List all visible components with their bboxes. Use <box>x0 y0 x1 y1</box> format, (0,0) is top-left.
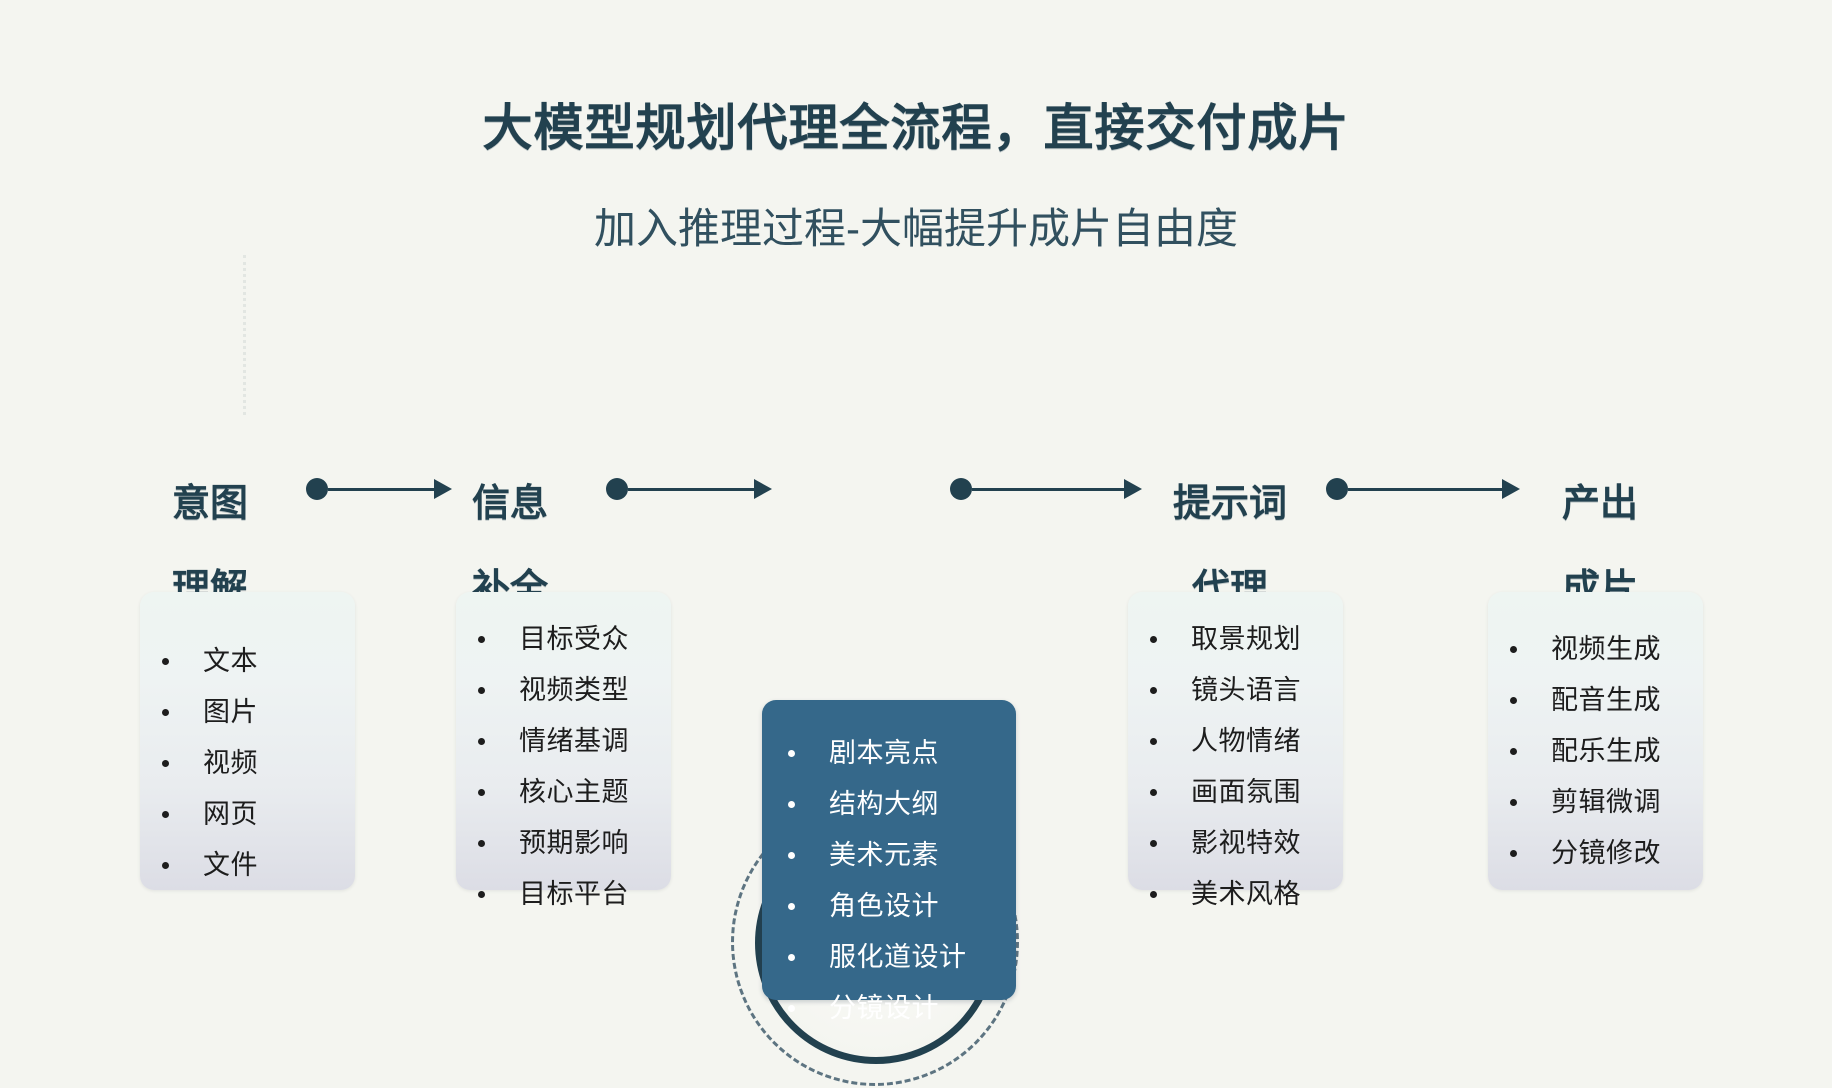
connector-planning-to-prompt <box>950 468 1136 508</box>
bullet-icon <box>1510 748 1517 755</box>
connector-dot-icon <box>306 478 328 500</box>
list-item-label: 美术元素 <box>829 842 939 869</box>
list-item[interactable]: 文本 <box>162 648 355 675</box>
list-item[interactable]: 结构大纲 <box>788 791 1016 818</box>
list-item-label: 核心主题 <box>519 779 629 806</box>
list-item-label: 网页 <box>203 801 258 828</box>
bullet-icon <box>1150 891 1157 898</box>
card-planning[interactable]: 剧本亮点 结构大纲 美术元素 角色设计 服化道设计 分镜设计 <box>762 700 1016 1000</box>
list-item[interactable]: 目标受众 <box>478 626 671 653</box>
bullet-icon <box>788 750 795 757</box>
bullet-icon <box>478 891 485 898</box>
list-item[interactable]: 服化道设计 <box>788 944 1016 971</box>
list-item-label: 服化道设计 <box>829 944 967 971</box>
list-item-label: 结构大纲 <box>829 791 939 818</box>
list-item[interactable]: 取景规划 <box>1150 626 1343 653</box>
list-item-label: 文件 <box>203 852 258 879</box>
bullet-icon <box>1150 789 1157 796</box>
list-item[interactable]: 角色设计 <box>788 893 1016 920</box>
bullet-icon <box>1150 738 1157 745</box>
list-item[interactable]: 影视特效 <box>1150 830 1343 857</box>
bullet-icon <box>478 687 485 694</box>
list-item[interactable]: 视频生成 <box>1510 636 1703 663</box>
list-item-label: 剧本亮点 <box>829 740 939 767</box>
bullet-icon <box>788 954 795 961</box>
list-item-label: 取景规划 <box>1191 626 1301 653</box>
list-item-label: 画面氛围 <box>1191 779 1301 806</box>
bullet-icon <box>1150 636 1157 643</box>
list-item[interactable]: 分镜修改 <box>1510 840 1703 867</box>
list-item-label: 角色设计 <box>829 893 939 920</box>
list-item-label: 剪辑微调 <box>1551 789 1661 816</box>
card-prompt-list: 取景规划 镜头语言 人物情绪 画面氛围 影视特效 美术风格 <box>1150 626 1343 908</box>
connector-dot-icon <box>606 478 628 500</box>
list-item[interactable]: 文件 <box>162 852 355 879</box>
bullet-icon <box>1510 850 1517 857</box>
bullet-icon <box>788 903 795 910</box>
list-item-label: 分镜修改 <box>1551 840 1661 867</box>
list-item-label: 视频生成 <box>1551 636 1661 663</box>
list-item-label: 美术风格 <box>1191 881 1301 908</box>
connector-line <box>628 488 754 491</box>
card-info[interactable]: 目标受众 视频类型 情绪基调 核心主题 预期影响 目标平台 <box>456 592 671 890</box>
list-item-label: 文本 <box>203 648 258 675</box>
list-item[interactable]: 配乐生成 <box>1510 738 1703 765</box>
bullet-icon <box>1510 646 1517 653</box>
list-item[interactable]: 目标平台 <box>478 881 671 908</box>
list-item[interactable]: 镜头语言 <box>1150 677 1343 704</box>
connector-info-to-planning <box>606 468 766 508</box>
list-item-label: 配乐生成 <box>1551 738 1661 765</box>
list-item-label: 镜头语言 <box>1191 677 1301 704</box>
list-item[interactable]: 美术元素 <box>788 842 1016 869</box>
page-subtitle: 加入推理过程-大幅提升成片自由度 <box>0 158 1832 254</box>
connector-intent-to-info <box>306 468 452 508</box>
flow-node-output-line1: 产出 <box>1540 483 1660 526</box>
card-info-list: 目标受众 视频类型 情绪基调 核心主题 预期影响 目标平台 <box>478 626 671 908</box>
bullet-icon <box>788 801 795 808</box>
header: 大模型规划代理全流程，直接交付成片 加入推理过程-大幅提升成片自由度 <box>0 0 1832 254</box>
list-item[interactable]: 视频 <box>162 750 355 777</box>
bullet-icon <box>478 636 485 643</box>
bullet-icon <box>1510 697 1517 704</box>
arrow-head-icon <box>1124 479 1142 499</box>
list-item[interactable]: 剧本亮点 <box>788 740 1016 767</box>
page-title: 大模型规划代理全流程，直接交付成片 <box>0 0 1832 158</box>
list-item[interactable]: 图片 <box>162 699 355 726</box>
bullet-icon <box>788 852 795 859</box>
list-item-label: 图片 <box>203 699 258 726</box>
list-item[interactable]: 视频类型 <box>478 677 671 704</box>
bullet-icon <box>162 862 169 869</box>
arrow-head-icon <box>754 479 772 499</box>
connector-line <box>328 488 434 491</box>
list-item[interactable]: 情绪基调 <box>478 728 671 755</box>
list-item[interactable]: 配音生成 <box>1510 687 1703 714</box>
connector-prompt-to-output <box>1326 468 1516 508</box>
list-item-label: 分镜设计 <box>829 995 939 1022</box>
list-item-label: 目标受众 <box>519 626 629 653</box>
connector-line <box>1348 488 1502 491</box>
flow-diagram: 意图 理解 信息 补全 智能 策划 提示词 代理 <box>0 440 1832 580</box>
bullet-icon <box>162 658 169 665</box>
card-intent-list: 文本 图片 视频 网页 文件 <box>162 648 355 879</box>
connector-line <box>972 488 1124 491</box>
bullet-icon <box>162 709 169 716</box>
list-item[interactable]: 美术风格 <box>1150 881 1343 908</box>
connector-dot-icon <box>950 478 972 500</box>
bullet-icon <box>1510 799 1517 806</box>
connector-dot-icon <box>1326 478 1348 500</box>
list-item-label: 视频 <box>203 750 258 777</box>
card-intent[interactable]: 文本 图片 视频 网页 文件 <box>140 592 355 890</box>
card-output-list: 视频生成 配音生成 配乐生成 剪辑微调 分镜修改 <box>1510 636 1703 867</box>
bullet-icon <box>1150 840 1157 847</box>
card-prompt[interactable]: 取景规划 镜头语言 人物情绪 画面氛围 影视特效 美术风格 <box>1128 592 1343 890</box>
bullet-icon <box>478 789 485 796</box>
card-planning-list: 剧本亮点 结构大纲 美术元素 角色设计 服化道设计 分镜设计 <box>788 740 1016 1022</box>
arrow-head-icon <box>1502 479 1520 499</box>
card-output[interactable]: 视频生成 配音生成 配乐生成 剪辑微调 分镜修改 <box>1488 592 1703 890</box>
list-item-label: 人物情绪 <box>1191 728 1301 755</box>
flow-node-info-line1: 信息 <box>450 483 570 526</box>
list-item[interactable]: 核心主题 <box>478 779 671 806</box>
list-item[interactable]: 预期影响 <box>478 830 671 857</box>
decorative-dotted-guide <box>243 255 246 415</box>
list-item[interactable]: 剪辑微调 <box>1510 789 1703 816</box>
list-item-label: 目标平台 <box>519 881 629 908</box>
list-item-label: 预期影响 <box>519 830 629 857</box>
flow-node-intent-line1: 意图 <box>150 483 270 526</box>
bullet-icon <box>1150 687 1157 694</box>
bullet-icon <box>162 811 169 818</box>
bullet-icon <box>478 738 485 745</box>
bullet-icon <box>162 760 169 767</box>
list-item-label: 影视特效 <box>1191 830 1301 857</box>
list-item[interactable]: 画面氛围 <box>1150 779 1343 806</box>
list-item-label: 情绪基调 <box>519 728 629 755</box>
list-item[interactable]: 人物情绪 <box>1150 728 1343 755</box>
list-item-label: 视频类型 <box>519 677 629 704</box>
bullet-icon <box>478 840 485 847</box>
list-item[interactable]: 网页 <box>162 801 355 828</box>
list-item-label: 配音生成 <box>1551 687 1661 714</box>
list-item[interactable]: 分镜设计 <box>788 995 1016 1022</box>
bullet-icon <box>788 1005 795 1012</box>
flow-node-prompt-line1: 提示词 <box>1150 483 1310 526</box>
